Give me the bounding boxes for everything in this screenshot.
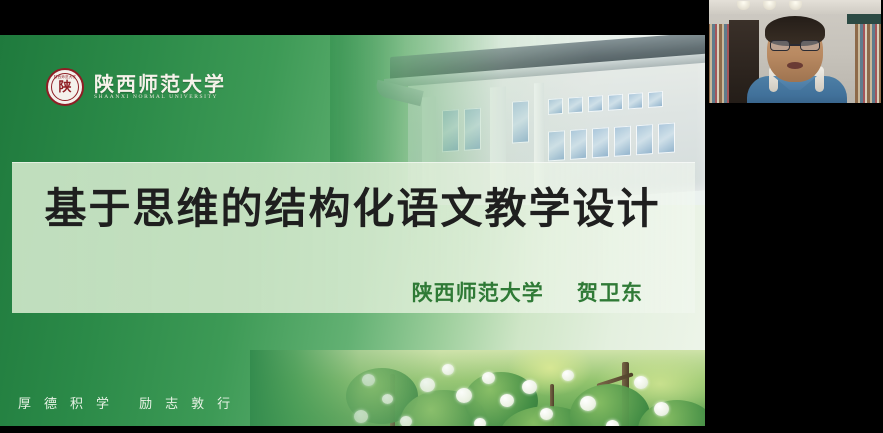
lens-right <box>800 40 820 51</box>
video-edge-left <box>707 0 709 103</box>
screen-share-region[interactable]: 陕西师范大学 陕 陕西师范大学 SHAANXI NORMAL UNIVERSIT… <box>0 0 705 433</box>
university-name-en: SHAANXI NORMAL UNIVERSITY <box>94 95 226 101</box>
photo-gradient-overlay <box>250 350 705 426</box>
speaker-video-feed[interactable] <box>707 0 883 103</box>
books <box>855 22 883 103</box>
video-panel-empty-area <box>705 103 883 433</box>
eyeglasses-icon <box>770 40 820 52</box>
university-crest-icon: 陕西师范大学 陕 <box>46 68 84 106</box>
slide-presenter: 陕西师范大学 贺卫东 <box>412 277 643 307</box>
glasses-bridge <box>790 44 800 46</box>
lens-left <box>770 40 790 51</box>
crest-arc-text: 陕西师范大学 <box>48 75 82 80</box>
meeting-screen: 陕西师范大学 陕 陕西师范大学 SHAANXI NORMAL UNIVERSIT… <box>0 0 883 433</box>
crest-character: 陕 <box>58 81 71 94</box>
shelf-top-box <box>847 14 883 24</box>
bookshelf-left <box>707 24 729 103</box>
letterbox-top <box>0 0 705 35</box>
books <box>707 24 729 103</box>
speaker-video-panel[interactable] <box>705 0 883 433</box>
flowering-trees-photo <box>250 350 705 426</box>
letterbox-bottom <box>0 426 705 433</box>
slide-motto: 厚德积学 励志敦行 <box>18 393 243 412</box>
university-logo: 陕西师范大学 陕 陕西师范大学 SHAANXI NORMAL UNIVERSIT… <box>46 68 226 106</box>
presentation-slide[interactable]: 陕西师范大学 陕 陕西师范大学 SHAANXI NORMAL UNIVERSIT… <box>0 35 705 426</box>
slide-title: 基于思维的结构化语文教学设计 <box>0 186 705 232</box>
university-name-cn: 陕西师范大学 <box>94 74 226 94</box>
university-wordmark: 陕西师范大学 SHAANXI NORMAL UNIVERSITY <box>94 74 226 101</box>
bookshelf-right <box>855 22 883 103</box>
speaker-mouth <box>787 62 803 69</box>
